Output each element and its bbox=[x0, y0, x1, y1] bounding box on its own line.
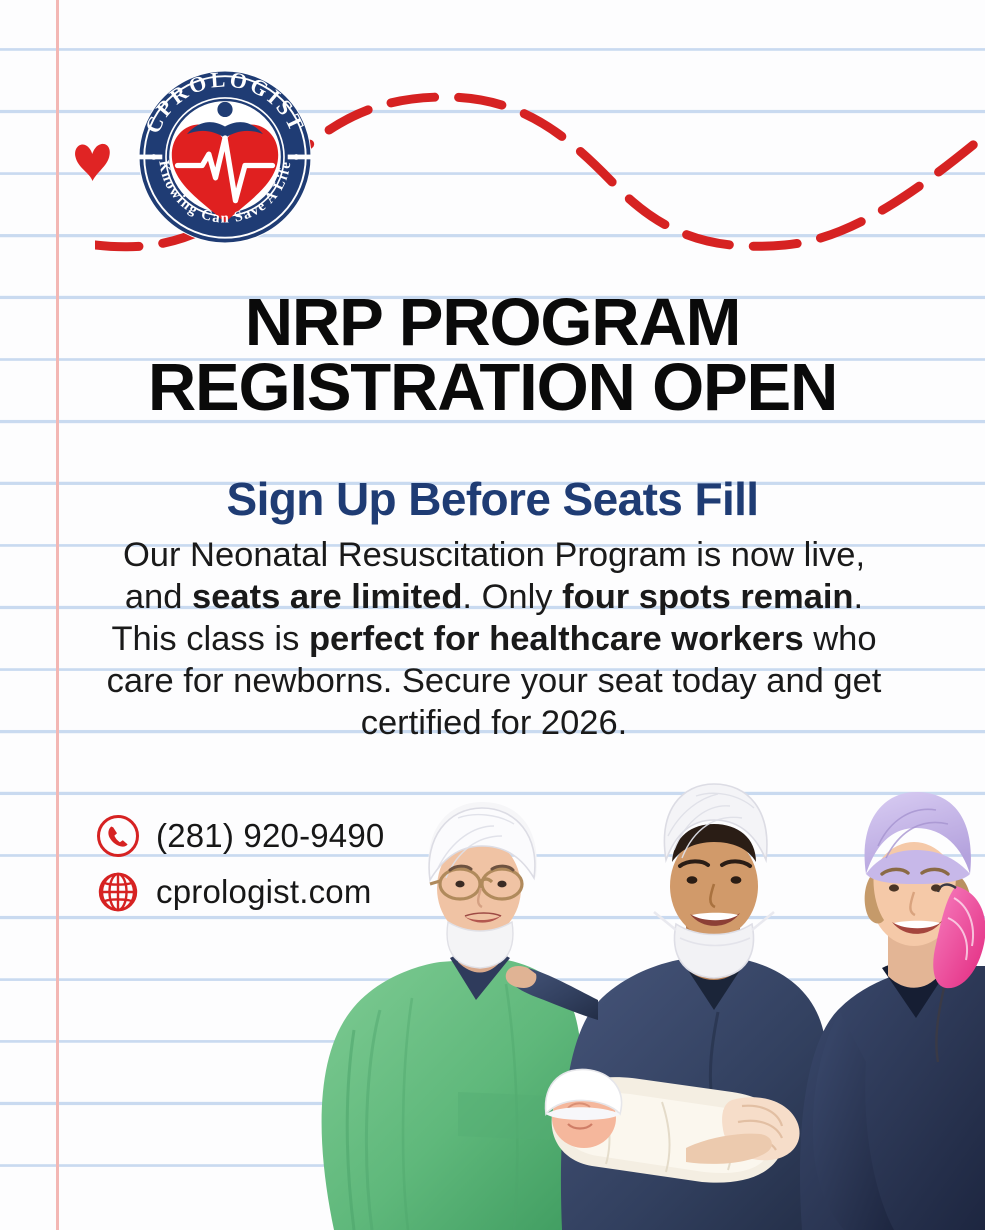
body-bold-1: seats are limited bbox=[192, 578, 462, 616]
globe-icon bbox=[96, 870, 140, 914]
page-title: NRP PROGRAM REGISTRATION OPEN bbox=[0, 290, 985, 420]
body-paragraph: Our Neonatal Resuscitation Program is no… bbox=[105, 534, 883, 744]
poster-canvas: CPROLOGIST Knowing Can Save A Life NRP P… bbox=[0, 0, 985, 1230]
person-nurse-left bbox=[322, 802, 586, 1230]
page-subtitle: Sign Up Before Seats Fill bbox=[0, 472, 985, 526]
team-photo-illustration bbox=[262, 762, 985, 1230]
body-bold-3: perfect for healthcare workers bbox=[309, 620, 804, 658]
person-nurse-right bbox=[800, 792, 985, 1230]
team-photo bbox=[262, 762, 985, 1230]
mini-heart-doodle-icon bbox=[72, 140, 112, 182]
cprologist-logo: CPROLOGIST Knowing Can Save A Life bbox=[130, 58, 320, 254]
paper-margin-line bbox=[56, 0, 59, 1230]
body-seg-2: . Only bbox=[462, 578, 562, 616]
body-bold-2: four spots remain bbox=[562, 578, 853, 616]
phone-circle-icon bbox=[96, 814, 140, 858]
